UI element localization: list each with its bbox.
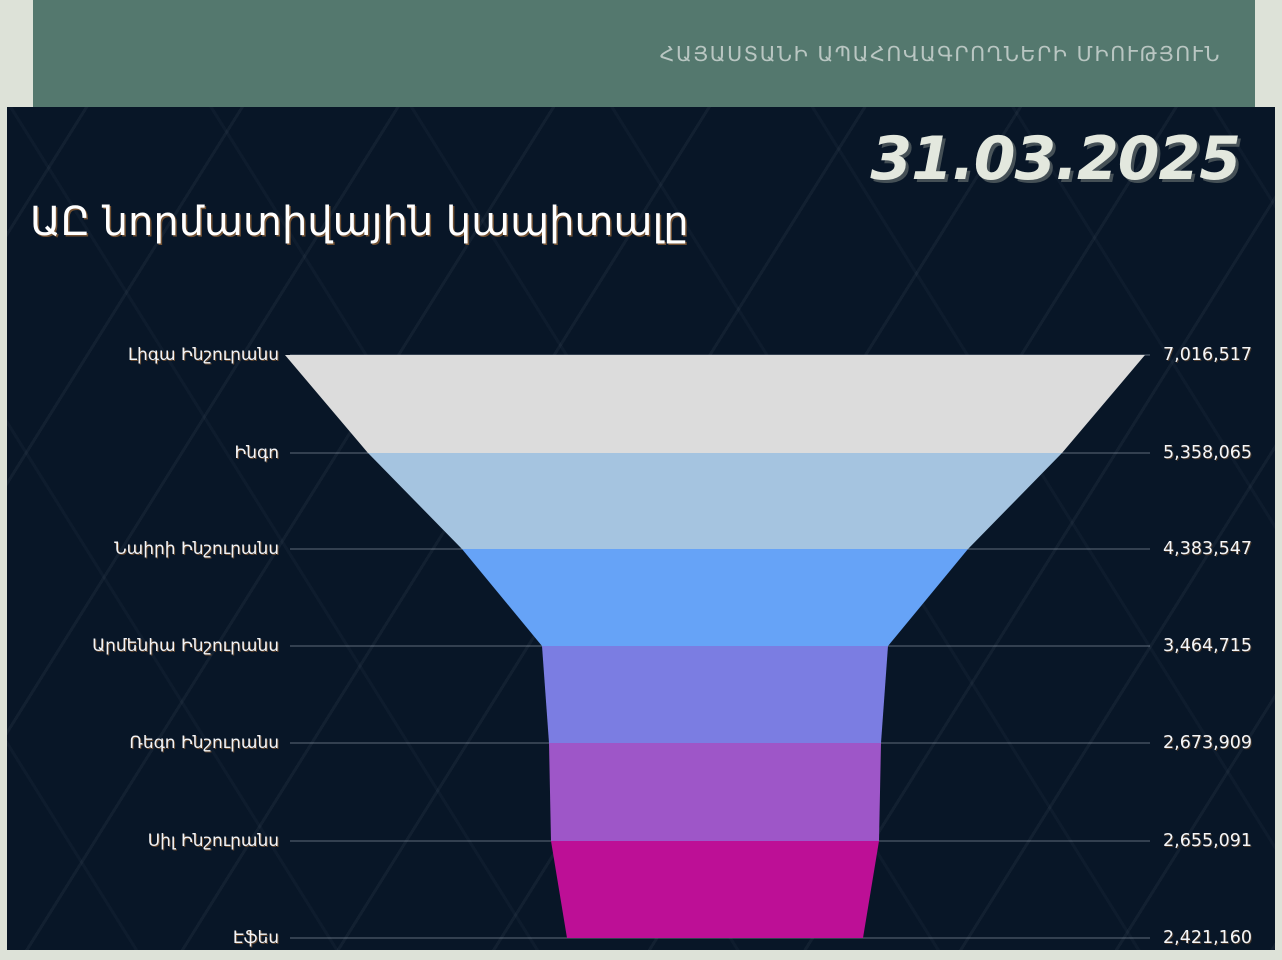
organization-title: ՀԱՅԱՍՏԱՆԻ ԱՊԱՀՈՎԱԳՐՈՂՆԵՐԻ ՄԻՈՒԹՅՈՒՆ: [660, 42, 1221, 66]
frame-edge-bottom: [0, 950, 1282, 960]
frame-edge-left: [0, 0, 7, 960]
frame-edge-right: [1275, 0, 1282, 960]
page-title: ԱԸ նորմատիվային կապիտալը: [30, 199, 689, 245]
header-bar: ՀԱՅԱՍՏԱՆԻ ԱՊԱՀՈՎԱԳՐՈՂՆԵՐԻ ՄԻՈՒԹՅՈՒՆ: [33, 0, 1255, 107]
slide-root: ՀԱՅԱՍՏԱՆԻ ԱՊԱՀՈՎԱԳՐՈՂՆԵՐԻ ՄԻՈՒԹՅՈՒՆ 31.0…: [0, 0, 1282, 960]
report-date: 31.03.2025: [870, 124, 1240, 194]
